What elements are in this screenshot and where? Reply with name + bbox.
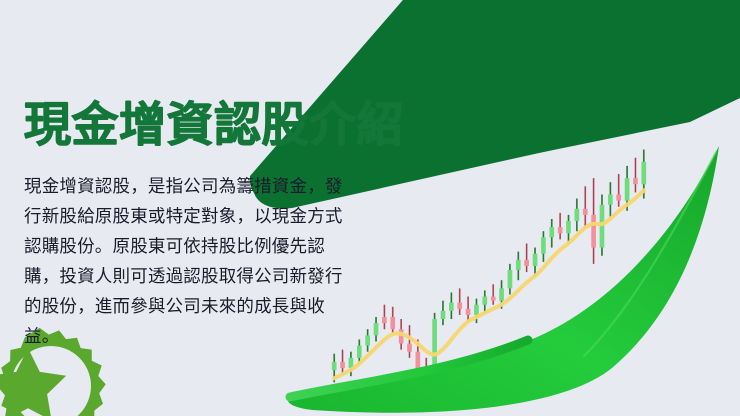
body-paragraph: 現金增資認股，是指公司為籌措資金，發行新股給原股東或特定對象，以現金方式認購股份… [24, 172, 354, 353]
slide-canvas: 現金增資認股介紹 現金增資認股，是指公司為籌措資金，發行新股給原股東或特定對象，… [0, 0, 740, 416]
page-title: 現金增資認股介紹 [24, 101, 404, 152]
text-content: 現金增資認股介紹 現金增資認股，是指公司為籌措資金，發行新股給原股東或特定對象，… [0, 0, 740, 416]
